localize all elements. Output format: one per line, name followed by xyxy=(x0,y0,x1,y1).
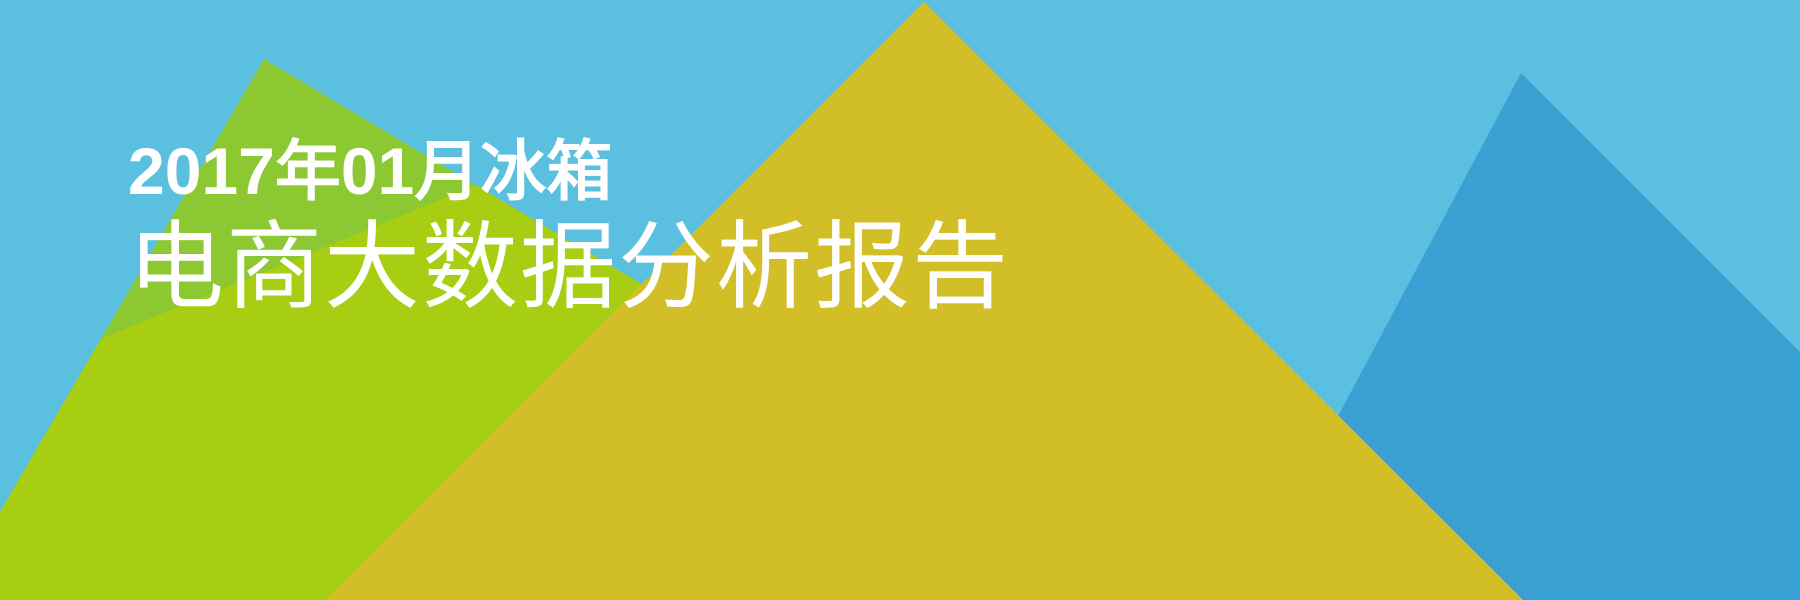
cover-title-block: 2017年01月冰箱 电商大数据分析报告 xyxy=(128,138,1328,316)
report-main-title: 电商大数据分析报告 xyxy=(128,220,1328,316)
report-cover-banner: 2017年01月冰箱 电商大数据分析报告 xyxy=(0,0,1800,600)
report-period-and-category: 2017年01月冰箱 xyxy=(128,138,1328,204)
